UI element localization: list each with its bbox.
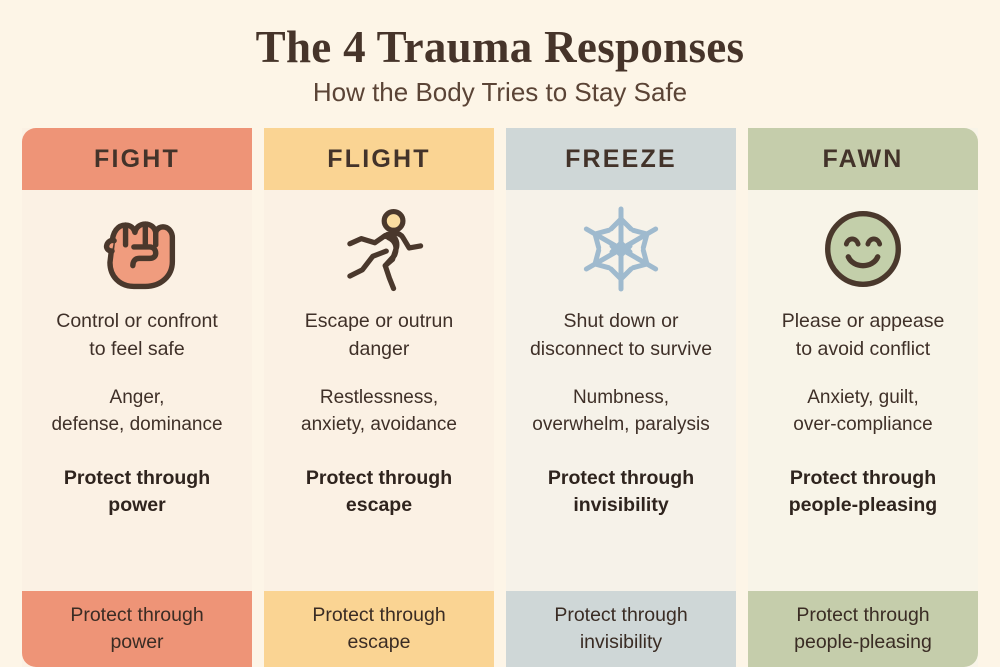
column-body-flight: Escape or outrun danger Restlessness, an… (264, 308, 494, 575)
symptom-line: over-compliance (793, 414, 932, 435)
response-column-flight: FLIGHT Escape or outrun danger (264, 128, 494, 667)
protect-line: Protect through (548, 467, 694, 489)
protect-line: Protect through (790, 467, 936, 489)
description-flight: Escape or outrun danger (305, 308, 454, 363)
footer-line: people-pleasing (794, 631, 932, 653)
column-footer-fawn: Protect through people-pleasing (748, 591, 978, 667)
description-freeze: Shut down or disconnect to survive (530, 308, 712, 363)
symptom-line: Restlessness, (320, 387, 438, 408)
protect-line: invisibility (573, 494, 668, 516)
protect-statement-freeze: Protect through invisibility (548, 465, 694, 520)
column-body-fight: Control or confront to feel safe Anger, … (22, 308, 252, 575)
symptom-line: Anxiety, guilt, (807, 387, 919, 408)
column-footer-fight: Protect through power (22, 591, 252, 667)
symptoms-freeze: Numbness, overwhelm, paralysis (532, 385, 709, 439)
symptoms-flight: Restlessness, anxiety, avoidance (301, 385, 457, 439)
protect-line: Protect through (306, 467, 452, 489)
symptom-line: defense, dominance (51, 414, 222, 435)
column-header-fawn: FAWN (748, 128, 978, 190)
column-header-flight: FLIGHT (264, 128, 494, 190)
protect-line: power (108, 494, 165, 516)
column-body-fawn: Please or appease to avoid conflict Anxi… (748, 308, 978, 575)
footer-line: invisibility (580, 631, 662, 653)
response-columns: FIGHT Control or confront to fee (0, 108, 1000, 667)
footer-line: escape (348, 631, 411, 653)
column-header-fight: FIGHT (22, 128, 252, 190)
column-footer-flight: Protect through escape (264, 591, 494, 667)
description-line: Shut down or (564, 310, 679, 332)
footer-line: Protect through (554, 604, 687, 626)
description-line: Control or confront (56, 310, 218, 332)
description-line: Please or appease (782, 310, 945, 332)
response-column-fight: FIGHT Control or confront to fee (22, 128, 252, 667)
symptom-line: Anger, (110, 387, 165, 408)
page-subtitle: How the Body Tries to Stay Safe (0, 78, 1000, 108)
response-column-freeze: FREEZE (506, 128, 736, 667)
description-fight: Control or confront to feel safe (56, 308, 218, 363)
page-title: The 4 Trauma Responses (0, 22, 1000, 72)
column-header-freeze: FREEZE (506, 128, 736, 190)
description-line: to avoid conflict (796, 338, 930, 360)
smiling-face-icon (748, 190, 978, 308)
protect-line: people-pleasing (789, 494, 937, 516)
page-header: The 4 Trauma Responses How the Body Trie… (0, 0, 1000, 108)
running-person-icon (264, 190, 494, 308)
protect-statement-fawn: Protect through people-pleasing (789, 465, 937, 520)
protect-line: Protect through (64, 467, 210, 489)
footer-line: Protect through (70, 604, 203, 626)
footer-line: power (110, 631, 163, 653)
footer-line: Protect through (796, 604, 929, 626)
symptom-line: anxiety, avoidance (301, 414, 457, 435)
symptom-line: Numbness, (573, 387, 669, 408)
column-footer-freeze: Protect through invisibility (506, 591, 736, 667)
description-line: to feel safe (89, 338, 184, 360)
column-body-freeze: Shut down or disconnect to survive Numbn… (506, 308, 736, 575)
description-line: Escape or outrun (305, 310, 454, 332)
infographic-root: The 4 Trauma Responses How the Body Trie… (0, 0, 1000, 667)
protect-statement-flight: Protect through escape (306, 465, 452, 520)
response-column-fawn: FAWN Please or appease to avoid conflict… (748, 128, 978, 667)
protect-statement-fight: Protect through power (64, 465, 210, 520)
symptom-line: overwhelm, paralysis (532, 414, 709, 435)
symptoms-fawn: Anxiety, guilt, over-compliance (793, 385, 932, 439)
footer-line: Protect through (312, 604, 445, 626)
raised-fist-icon (22, 190, 252, 308)
snowflake-icon (506, 190, 736, 308)
description-line: danger (349, 338, 410, 360)
protect-line: escape (346, 494, 412, 516)
description-line: disconnect to survive (530, 338, 712, 360)
symptoms-fight: Anger, defense, dominance (51, 385, 222, 439)
description-fawn: Please or appease to avoid conflict (782, 308, 945, 363)
